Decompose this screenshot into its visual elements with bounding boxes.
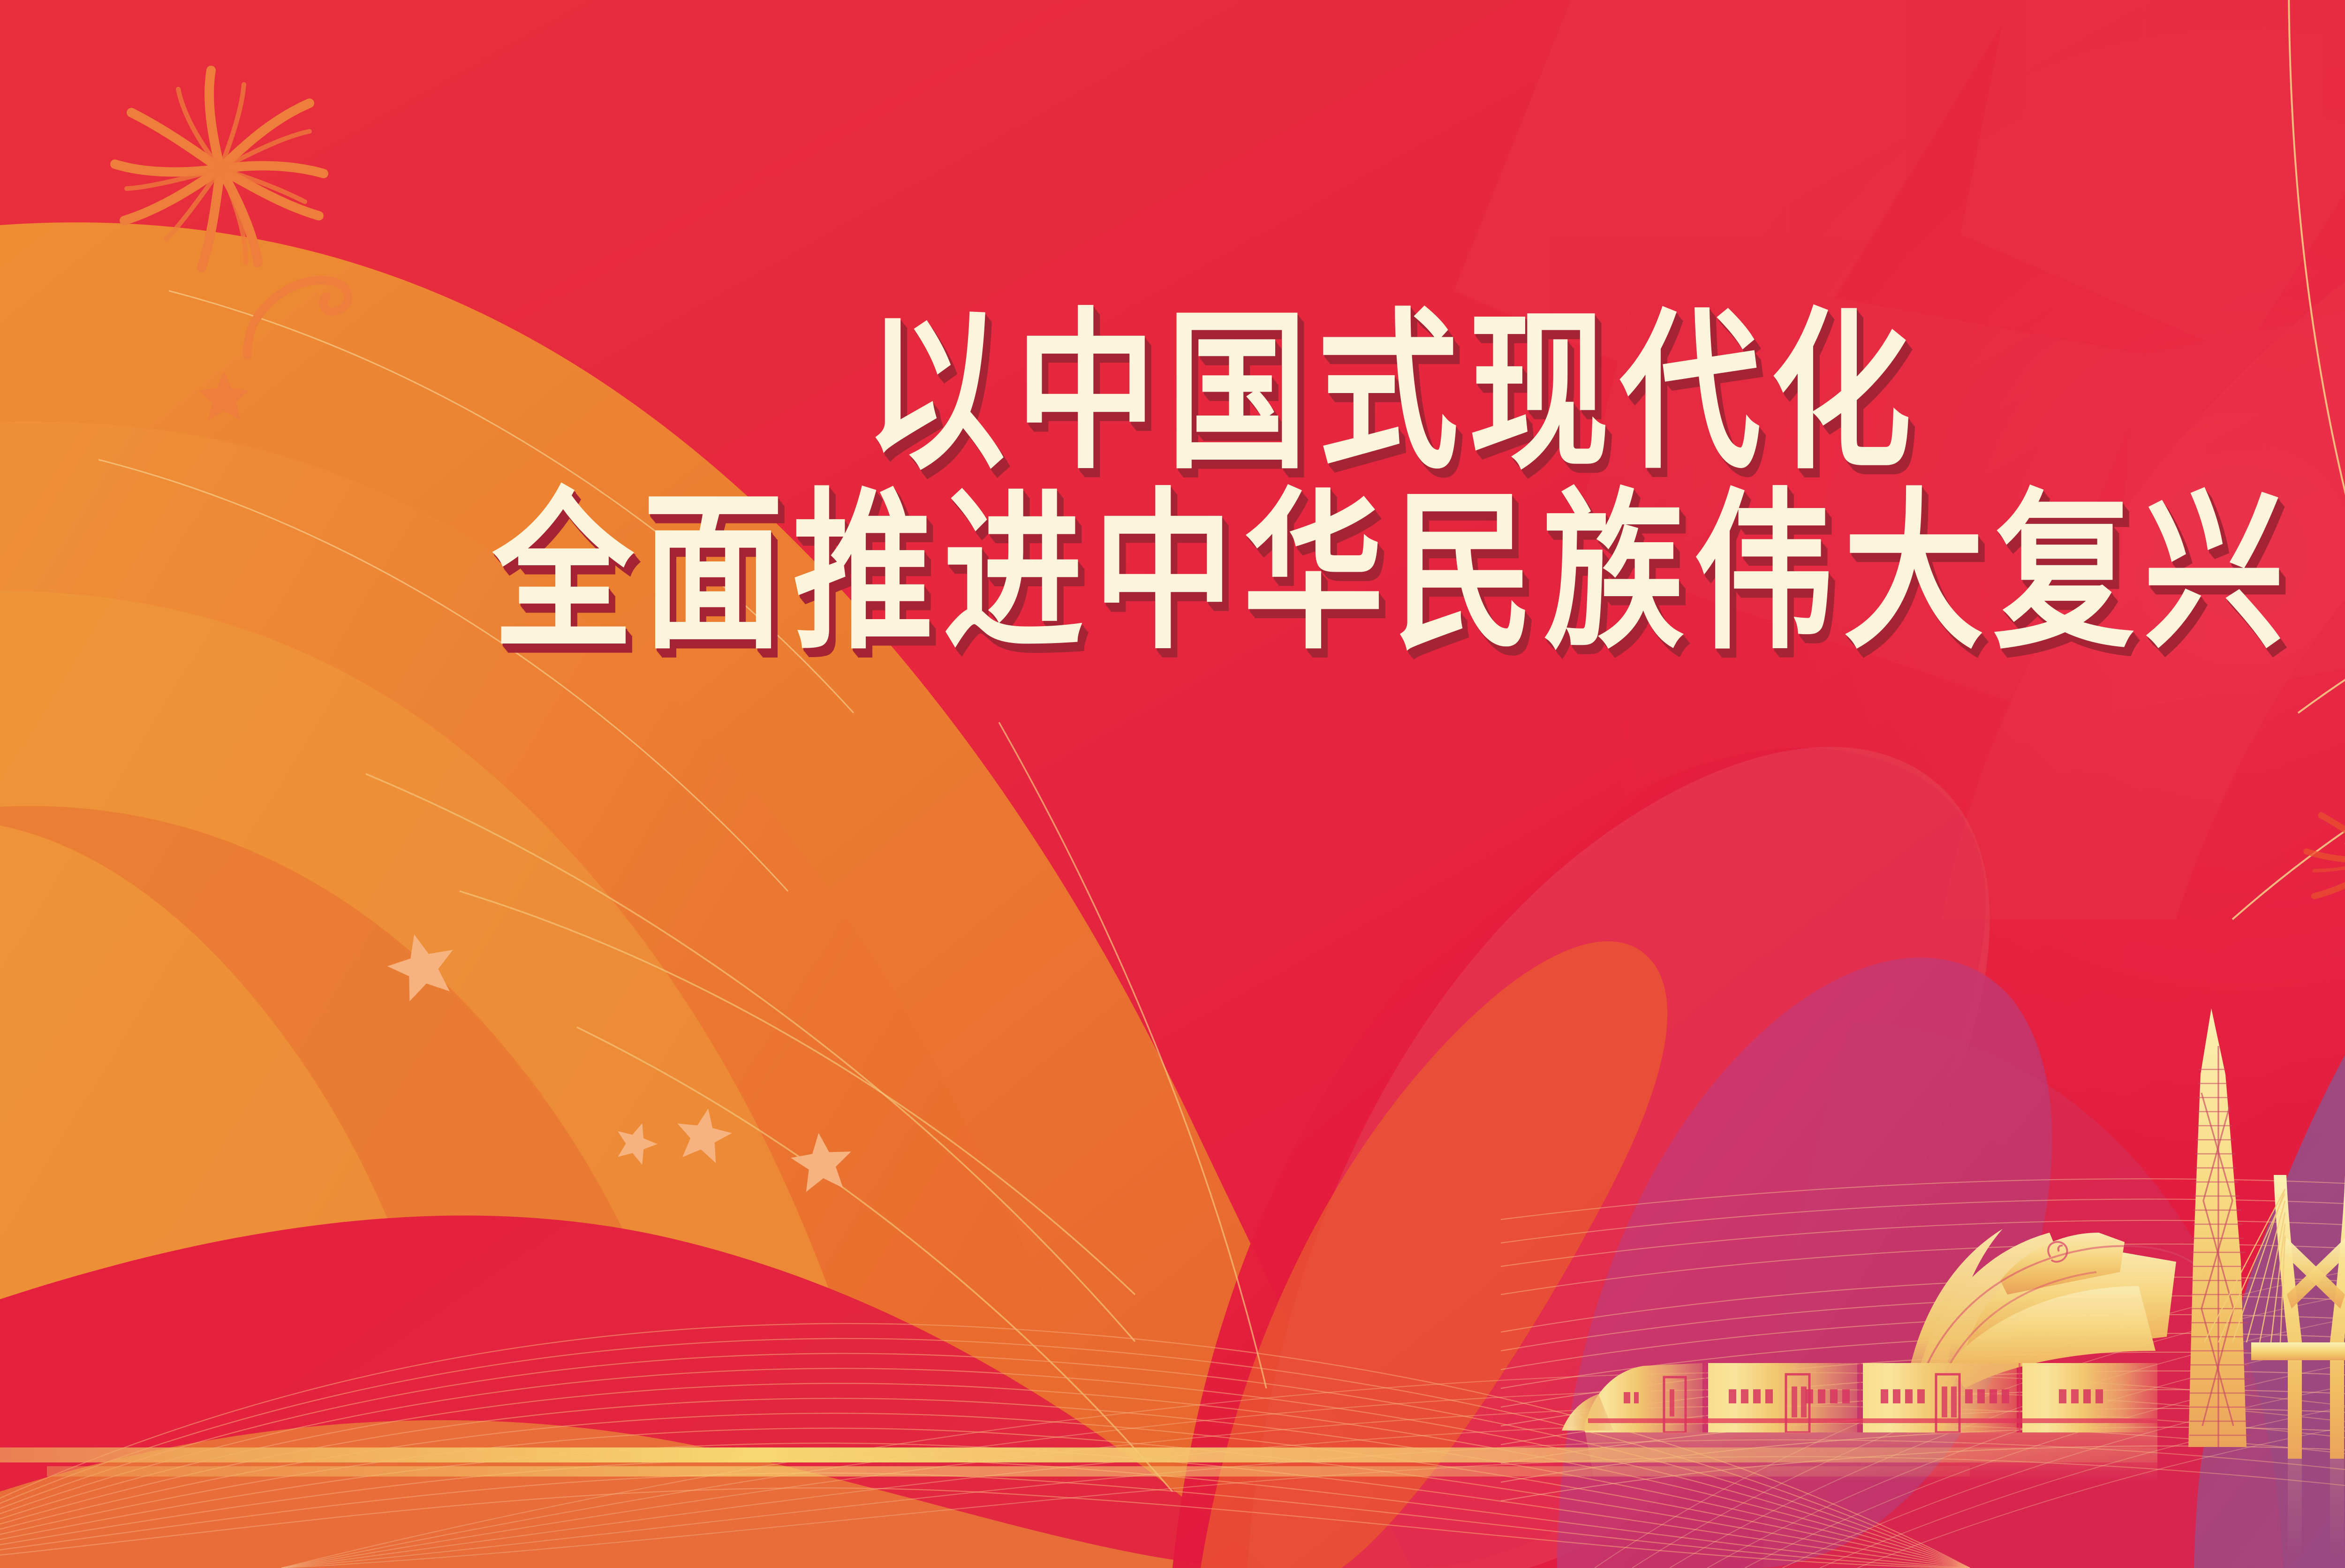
star-icon <box>672 1104 735 1165</box>
star-icon <box>788 1130 855 1193</box>
firework-burst-icon <box>2307 784 2345 935</box>
poster-canvas: 以中国式现代化 全面推进中华民族伟大复兴 <box>0 0 2345 1568</box>
star-icon <box>2340 826 2345 878</box>
firework-burst-icon <box>115 70 348 420</box>
star-group <box>381 826 2345 1193</box>
star-icon <box>610 1117 662 1167</box>
decoration-layer <box>0 0 2345 1568</box>
star-icon <box>381 926 462 1005</box>
